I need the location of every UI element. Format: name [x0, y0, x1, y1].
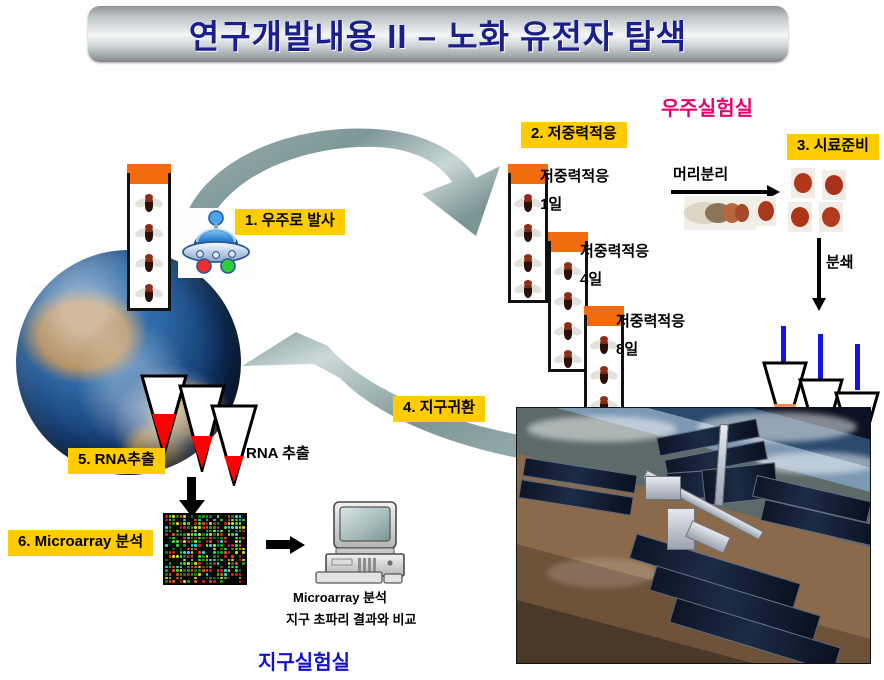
microarray-spot — [169, 519, 172, 522]
microarray-spot — [239, 569, 242, 572]
microarray-spot — [198, 548, 201, 551]
microarray-spot — [191, 573, 194, 576]
microarray-spot — [194, 580, 197, 583]
fly-head-photo — [756, 196, 776, 226]
microarray-spot — [172, 540, 175, 543]
microarray-spot — [217, 569, 220, 572]
microarray-spot — [180, 562, 183, 565]
step-label-3[interactable]: 3. 시료준비 — [787, 134, 879, 160]
microarray-spot — [224, 555, 227, 558]
microarray-spot — [198, 519, 201, 522]
head-separation-arrow-shaft — [671, 190, 769, 194]
microarray-spot — [231, 562, 234, 565]
microarray-spot — [187, 548, 190, 551]
microarray-spot — [220, 544, 223, 547]
microarray-spot — [176, 526, 179, 529]
microarray-spot — [198, 573, 201, 576]
microarray-spot — [172, 555, 175, 558]
microarray-spot — [217, 555, 220, 558]
microarray-spot — [231, 533, 234, 536]
microarray-spot — [235, 526, 238, 529]
microarray-spot — [202, 577, 205, 580]
microarray-spot — [231, 559, 234, 562]
microarray-spot — [202, 519, 205, 522]
microarray-spot — [169, 566, 172, 569]
microarray-spot — [176, 537, 179, 540]
page-title: 연구개발내용 II – 노화 유전자 탐색 — [189, 10, 687, 58]
microarray-spot — [217, 548, 220, 551]
microarray-spot — [172, 548, 175, 551]
microarray-spot — [228, 580, 231, 583]
microarray-spot — [169, 530, 172, 533]
microarray-spot — [239, 526, 242, 529]
microarray-spot — [165, 548, 168, 551]
computer-caption-line1: Microarray 분석 — [293, 591, 387, 606]
microarray-spot — [217, 522, 220, 525]
microarray-spot — [172, 551, 175, 554]
microarray-spot — [183, 551, 186, 554]
microarray-spot — [209, 562, 212, 565]
microarray-spot — [209, 530, 212, 533]
microarray-spot — [217, 526, 220, 529]
microarray-spot — [235, 551, 238, 554]
microarray-spot — [224, 551, 227, 554]
vial-caption-day8-line2: 8일 — [616, 341, 638, 358]
microarray-spot — [228, 522, 231, 525]
microarray-spot — [242, 515, 245, 518]
microarray-spot — [202, 562, 205, 565]
microarray-spot — [165, 540, 168, 543]
microarray-spot — [209, 548, 212, 551]
fly-vial-earth — [127, 170, 171, 311]
microarray-spot — [231, 526, 234, 529]
microarray-spot — [180, 559, 183, 562]
microarray-spot — [231, 555, 234, 558]
microarray-spot — [198, 566, 201, 569]
microarray-spot — [228, 548, 231, 551]
microarray-spot — [176, 540, 179, 543]
microarray-spot — [242, 569, 245, 572]
microarray-spot — [213, 530, 216, 533]
microarray-spot — [194, 573, 197, 576]
vial-caption-day8-line1: 저중력적응 — [616, 313, 685, 330]
microarray-spot — [198, 533, 201, 536]
microarray-spot — [183, 573, 186, 576]
step-label-6[interactable]: 6. Microarray 분석 — [8, 530, 153, 556]
microarray-spot — [209, 537, 212, 540]
microarray-spot — [239, 540, 242, 543]
microarray-spot — [169, 522, 172, 525]
fruit-fly-icon — [515, 195, 541, 213]
microarray-spot — [165, 555, 168, 558]
microarray-spot — [220, 562, 223, 565]
microarray-spot — [180, 540, 183, 543]
fruit-fly-icon — [555, 351, 581, 369]
computer-arrow-head — [290, 536, 305, 554]
diagram-canvas: 연구개발내용 II – 노화 유전자 탐색 — [0, 0, 884, 680]
microarray-spot — [239, 548, 242, 551]
microarray-spot — [198, 551, 201, 554]
microarray-spot — [176, 530, 179, 533]
microarray-spot — [228, 530, 231, 533]
microarray-spot — [198, 562, 201, 565]
microarray-spot — [206, 551, 209, 554]
vial-caption-day4-line1: 저중력적응 — [580, 243, 649, 260]
step-label-4[interactable]: 4. 지구귀환 — [393, 396, 485, 422]
microarray-spot — [231, 569, 234, 572]
vial-caption-day1-line2: 1일 — [540, 196, 562, 213]
microarray-spot — [239, 555, 242, 558]
vial-caption-day4-line2: 4일 — [580, 271, 602, 288]
microarray-spot — [183, 522, 186, 525]
microarray-spot — [169, 562, 172, 565]
microarray-spot — [165, 569, 168, 572]
microarray-spot — [194, 559, 197, 562]
microarray-spot — [183, 559, 186, 562]
microarray-spot — [228, 515, 231, 518]
microarray-spot — [169, 555, 172, 558]
microarray-spot — [235, 569, 238, 572]
microarray-spot — [187, 522, 190, 525]
microarray-spot — [172, 544, 175, 547]
microarray-spot — [180, 537, 183, 540]
microarray-spot — [187, 569, 190, 572]
microarray-spot — [198, 555, 201, 558]
microarray-spot — [231, 573, 234, 576]
microarray-spot — [191, 548, 194, 551]
microarray-spot — [242, 551, 245, 554]
microarray-spot — [224, 519, 227, 522]
microarray-spot — [228, 555, 231, 558]
microarray-spot — [213, 559, 216, 562]
microarray-spot — [169, 548, 172, 551]
microarray-spot — [198, 537, 201, 540]
microarray-spot — [231, 522, 234, 525]
microarray-spot — [194, 577, 197, 580]
microarray-spot — [183, 544, 186, 547]
microarray-spot — [220, 573, 223, 576]
microarray-spot — [213, 569, 216, 572]
microarray-spot — [191, 544, 194, 547]
microarray-spot — [187, 551, 190, 554]
microarray-spot — [235, 522, 238, 525]
microarray-spot — [176, 573, 179, 576]
extract-pestle — [818, 334, 823, 380]
microarray-spot — [169, 569, 172, 572]
microarray-spot — [176, 569, 179, 572]
fruit-fly-icon — [555, 293, 581, 311]
microarray-spot — [165, 522, 168, 525]
microarray-spot — [224, 559, 227, 562]
microarray-spot — [228, 544, 231, 547]
microarray-spot — [180, 533, 183, 536]
microarray-spot — [202, 515, 205, 518]
microarray-spot — [202, 573, 205, 576]
microarray-spot — [198, 530, 201, 533]
microarray-spot — [224, 526, 227, 529]
microarray-spot — [180, 515, 183, 518]
microarray-spot — [228, 573, 231, 576]
microarray-spot — [172, 559, 175, 562]
microarray-spot — [194, 544, 197, 547]
microarray-spot — [172, 533, 175, 536]
microarray-spot — [235, 537, 238, 540]
microarray-spot — [172, 569, 175, 572]
microarray-spot — [209, 544, 212, 547]
microarray-spot — [213, 526, 216, 529]
microarray-spot — [194, 530, 197, 533]
fruit-fly-icon — [515, 225, 541, 243]
fly-vial-day1 — [508, 170, 548, 303]
microarray-spot — [228, 533, 231, 536]
microarray-spot — [228, 562, 231, 565]
microarray-spot — [176, 566, 179, 569]
microarray-spot — [239, 544, 242, 547]
microarray-spot — [183, 569, 186, 572]
microarray-spot — [224, 562, 227, 565]
microarray-spot — [165, 577, 168, 580]
microarray-spot — [209, 577, 212, 580]
microarray-spot — [209, 566, 212, 569]
microarray-spot — [213, 562, 216, 565]
microarray-spot — [191, 555, 194, 558]
microarray-spot — [206, 566, 209, 569]
computer-caption-line2: 지구 초파리 결과와 비교 — [286, 613, 416, 628]
microarray-spot — [191, 559, 194, 562]
microarray-spot — [180, 530, 183, 533]
fruit-fly-icon — [515, 281, 541, 299]
microarray-spot — [213, 573, 216, 576]
vial-cap — [548, 232, 588, 241]
microarray-spot — [169, 537, 172, 540]
microarray-spot — [191, 551, 194, 554]
microarray-spot — [194, 569, 197, 572]
head-separation-label: 머리분리 — [673, 166, 728, 183]
microarray-spot — [224, 577, 227, 580]
microarray-spot — [209, 551, 212, 554]
microarray-spot — [220, 522, 223, 525]
microarray-spot — [194, 537, 197, 540]
microarray-spot — [198, 515, 201, 518]
whole-fly-photo — [684, 196, 756, 230]
step-label-1[interactable]: 1. 우주로 발사 — [235, 209, 345, 235]
microarray-spot — [235, 533, 238, 536]
microarray-spot — [224, 515, 227, 518]
microarray-spot — [224, 537, 227, 540]
microarray-spot — [217, 540, 220, 543]
fruit-fly-icon — [136, 225, 162, 243]
microarray-spot — [180, 551, 183, 554]
microarray-spot — [194, 551, 197, 554]
microarray-spot — [224, 540, 227, 543]
microarray-spot — [187, 555, 190, 558]
step-label-5[interactable]: 5. RNA추출 — [68, 448, 165, 474]
microarray-spot — [231, 577, 234, 580]
microarray-spot — [235, 559, 238, 562]
fruit-fly-icon — [515, 255, 541, 273]
microarray-spot — [206, 526, 209, 529]
microarray-spot — [187, 544, 190, 547]
microarray-spot — [206, 580, 209, 583]
microarray-spot — [176, 559, 179, 562]
microarray-spot — [235, 566, 238, 569]
microarray-spot — [180, 573, 183, 576]
microarray-spot — [213, 533, 216, 536]
microarray-spot — [224, 544, 227, 547]
microarray-spot — [165, 562, 168, 565]
microarray-spot — [213, 548, 216, 551]
microarray-spot — [213, 555, 216, 558]
microarray-spot — [172, 515, 175, 518]
microarray-spot — [183, 515, 186, 518]
microarray-spot — [231, 540, 234, 543]
microarray-spot — [242, 562, 245, 565]
microarray-spot — [165, 566, 168, 569]
microarray-spot — [183, 566, 186, 569]
fruit-fly-icon — [555, 323, 581, 341]
microarray-spot — [228, 537, 231, 540]
microarray-spot — [183, 562, 186, 565]
fruit-fly-icon — [591, 367, 617, 385]
microarray-spot — [169, 551, 172, 554]
microarray-spot — [206, 573, 209, 576]
microarray-spot — [217, 530, 220, 533]
microarray-spot — [242, 555, 245, 558]
microarray-spot — [187, 580, 190, 583]
microarray-spot — [165, 519, 168, 522]
microarray-spot — [180, 548, 183, 551]
microarray-spot — [231, 537, 234, 540]
microarray-spot — [183, 533, 186, 536]
microarray-spot — [202, 580, 205, 583]
microarray-spot — [209, 559, 212, 562]
microarray-spot — [228, 526, 231, 529]
microarray-spot — [202, 540, 205, 543]
microarray-spot — [228, 566, 231, 569]
microarray-spot — [235, 530, 238, 533]
microarray-spot — [239, 580, 242, 583]
fly-head-icon — [788, 202, 812, 232]
step-label-2[interactable]: 2. 저중력적응 — [521, 122, 627, 148]
microarray-spot — [176, 551, 179, 554]
microarray-spot — [220, 548, 223, 551]
microarray-spot — [206, 548, 209, 551]
fly-head-icon — [819, 202, 843, 232]
microarray-spot — [172, 577, 175, 580]
fruit-fly-icon — [555, 263, 581, 281]
microarray-spot — [217, 515, 220, 518]
microarray-spot — [224, 530, 227, 533]
microarray-spot — [242, 533, 245, 536]
microarray-spot — [206, 569, 209, 572]
microarray-spot — [180, 569, 183, 572]
microarray-spot — [231, 515, 234, 518]
fly-head-icon — [791, 168, 815, 198]
microarray-spot — [242, 522, 245, 525]
microarray-spot — [202, 548, 205, 551]
microarray-spot — [202, 559, 205, 562]
microarray-spot — [191, 522, 194, 525]
microarray-spot — [194, 566, 197, 569]
microarray-spot — [202, 537, 205, 540]
microarray-spot — [191, 519, 194, 522]
grinding-arrow-head — [812, 298, 826, 311]
microarray-spot — [187, 566, 190, 569]
microarray-spot — [202, 544, 205, 547]
microarray-spot — [187, 519, 190, 522]
vial-plug — [130, 173, 168, 184]
microarray-spot — [191, 533, 194, 536]
microarray-spot — [235, 540, 238, 543]
microarray-spot — [165, 537, 168, 540]
microarray-spot — [242, 544, 245, 547]
microarray-spot — [176, 544, 179, 547]
microarray-spot — [183, 537, 186, 540]
microarray-spot — [176, 580, 179, 583]
microarray-spot — [231, 530, 234, 533]
microarray-spot — [169, 577, 172, 580]
microarray-spot — [235, 544, 238, 547]
microarray-spot — [209, 533, 212, 536]
desktop-computer-icon — [310, 500, 420, 585]
microarray-spot — [180, 526, 183, 529]
microarray-spot — [239, 530, 242, 533]
microarray-spot — [235, 577, 238, 580]
grinding-label: 분쇄 — [826, 254, 854, 271]
title-banner: 연구개발내용 II – 노화 유전자 탐색 — [88, 6, 788, 62]
microarray-spot — [242, 559, 245, 562]
microarray-spot — [228, 519, 231, 522]
microarray-spot — [206, 519, 209, 522]
microarray-spot — [239, 573, 242, 576]
microarray-spot — [198, 559, 201, 562]
microarray-spot — [172, 530, 175, 533]
microarray-spot — [169, 515, 172, 518]
grinding-arrow-shaft — [817, 238, 821, 300]
microarray-spot — [217, 559, 220, 562]
microarray-spot — [191, 580, 194, 583]
microarray-spot — [206, 530, 209, 533]
microarray-spot — [206, 577, 209, 580]
microarray-spot — [176, 577, 179, 580]
microarray-spot — [220, 559, 223, 562]
microarray-spot — [235, 562, 238, 565]
microarray-spot — [202, 522, 205, 525]
microarray-spot — [231, 551, 234, 554]
microarray-spot — [172, 522, 175, 525]
extract-pestle — [855, 344, 860, 390]
microarray-spot — [231, 566, 234, 569]
microarray-spot — [169, 573, 172, 576]
microarray-spot — [176, 548, 179, 551]
microarray-spot — [183, 526, 186, 529]
microarray-spot — [176, 519, 179, 522]
microarray-spot — [198, 569, 201, 572]
space-station-photo — [516, 407, 871, 664]
microarray-spot — [231, 544, 234, 547]
microarray-spot — [183, 530, 186, 533]
microarray-spot — [242, 540, 245, 543]
fruit-fly-icon — [136, 255, 162, 273]
microarray-spot — [239, 519, 242, 522]
microarray-spot — [209, 522, 212, 525]
microarray-spot — [176, 515, 179, 518]
microarray-spot — [198, 577, 201, 580]
microarray-spot — [213, 551, 216, 554]
microarray-spot — [191, 515, 194, 518]
microarray-spot — [169, 526, 172, 529]
microarray-spot — [231, 580, 234, 583]
